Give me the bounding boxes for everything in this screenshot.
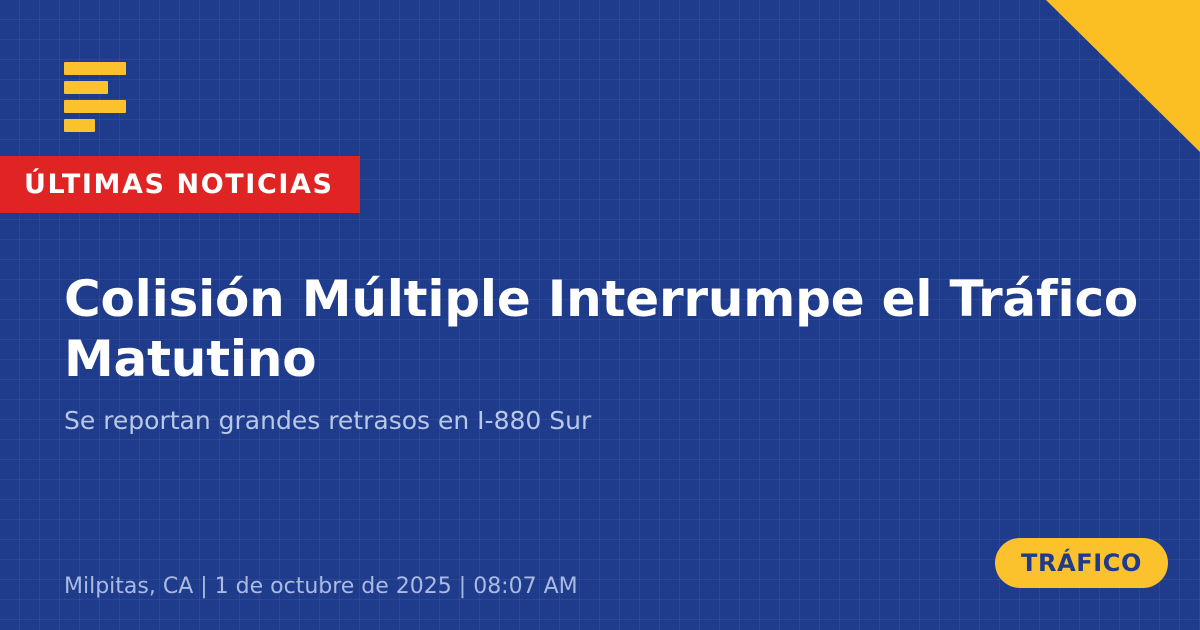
footer-meta: Milpitas, CA | 1 de octubre de 2025 | 08…: [64, 574, 578, 600]
breaking-news-label: ÚLTIMAS NOTICIAS: [24, 171, 334, 198]
headline-text: Colisión Múltiple Interrumpe el Tráfico …: [64, 269, 1154, 389]
brand-logo: [64, 62, 126, 132]
corner-triangle-decor: [1046, 0, 1200, 152]
category-badge: TRÁFICO: [995, 538, 1168, 588]
breaking-news-badge: ÚLTIMAS NOTICIAS: [0, 156, 360, 213]
logo-bar-1: [64, 62, 126, 75]
breaking-news-card: ÚLTIMAS NOTICIAS Colisión Múltiple Inter…: [0, 0, 1200, 630]
logo-bar-3: [64, 100, 126, 113]
subtitle-text: Se reportan grandes retrasos en I-880 Su…: [64, 405, 1064, 438]
category-badge-label: TRÁFICO: [1021, 551, 1142, 575]
logo-bar-4: [64, 119, 95, 132]
logo-bar-2: [64, 81, 108, 94]
